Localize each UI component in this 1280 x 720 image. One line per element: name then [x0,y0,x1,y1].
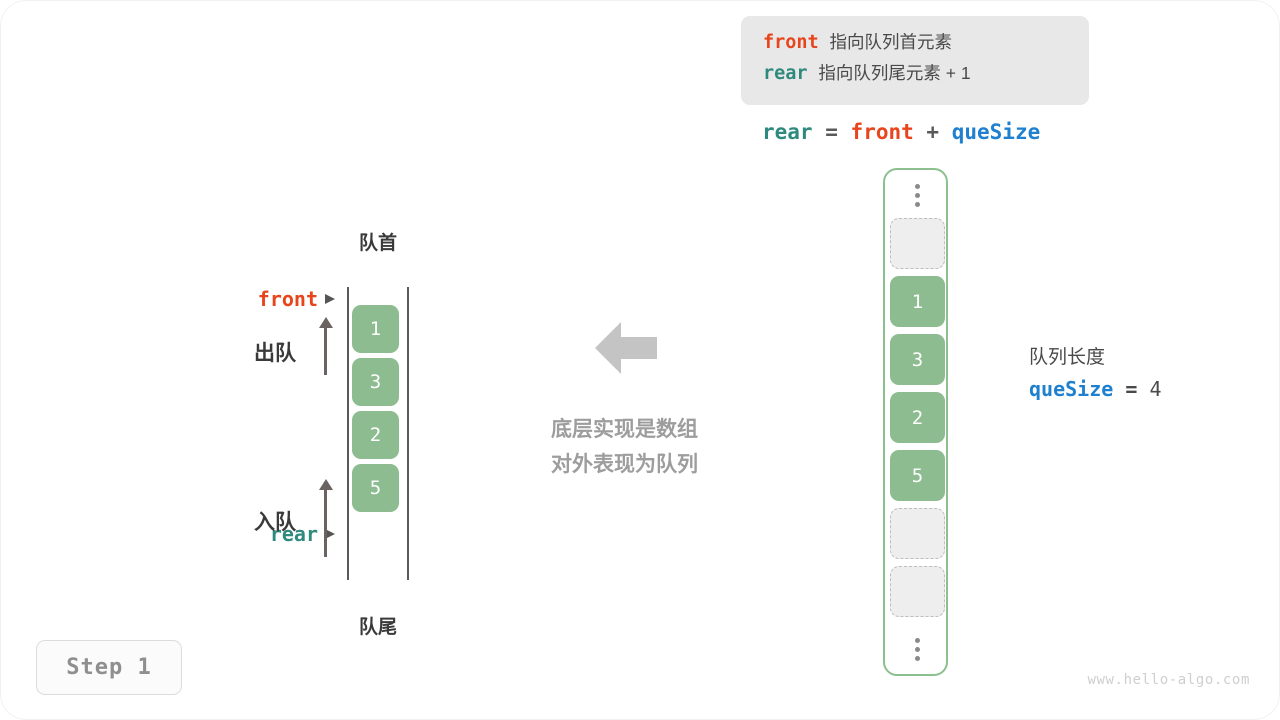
pointer-definition-note: front 指向队列首元素 rear 指向队列尾元素 + 1 [741,16,1089,105]
array-cell-1: 1 [890,276,945,327]
front-keyword: front [763,32,819,53]
queue-cell-1: 3 [352,358,399,406]
step-badge: Step 1 [36,640,182,695]
quesize-equals: = [1125,377,1137,401]
rear-keyword: rear [763,63,808,84]
queue-size-title: 队列长度 [1029,343,1161,373]
diagram-caption: 底层实现是数组 对外表现为队列 [512,412,737,482]
step-badge-label: Step 1 [66,655,151,680]
front-pointer-label: front [258,287,335,311]
array-cell-3: 2 [890,392,945,443]
array-cell-2-value: 3 [912,349,923,371]
array-cell-6 [890,566,945,617]
array-cell-1-value: 1 [912,291,923,313]
array-cell-3-value: 2 [912,407,923,429]
rear-formula: rear = front + queSize [762,120,1040,144]
underlying-array: 1 3 2 5 [883,168,948,676]
queue-rail-left [347,287,349,580]
front-pointer-text: front [258,287,318,311]
array-cell-4-value: 5 [912,465,923,487]
arrow-right-caret-icon-front [325,294,335,304]
queue-cell-2-value: 2 [370,424,381,446]
caption-line-1: 底层实现是数组 [512,412,737,447]
queue-head-label: 队首 [347,228,409,255]
vertical-ellipsis-icon-top [885,178,950,212]
array-cell-0 [890,218,945,269]
formula-equals: = [825,120,838,144]
arrow-up-icon-dequeue [318,317,334,375]
queue-cell-3: 5 [352,464,399,512]
rear-description: 指向队列尾元素 + 1 [818,63,970,83]
array-cell-5 [890,508,945,559]
formula-plus: + [926,120,939,144]
queue-cell-0-value: 1 [370,318,381,340]
front-description: 指向队列首元素 [830,32,953,52]
note-line-front: front 指向队列首元素 [763,27,1089,58]
quesize-variable: queSize [1029,377,1113,401]
formula-rear: rear [762,120,813,144]
queue-tail-label: 队尾 [347,612,409,639]
formula-quesize: queSize [952,120,1041,144]
arrow-up-icon-enqueue [318,479,334,557]
queue-rail-right [407,287,409,580]
queue-cell-1-value: 3 [370,371,381,393]
queue-cell-3-value: 5 [370,477,381,499]
queue-cell-0: 1 [352,305,399,353]
dequeue-label: 出队 [254,337,296,367]
queue-size-annotation: 队列长度 queSize = 4 [1029,343,1161,405]
quesize-value: 4 [1149,377,1161,401]
caption-line-2: 对外表现为队列 [512,447,737,482]
formula-front: front [851,120,914,144]
enqueue-label: 入队 [254,506,296,536]
arrow-left-icon [595,322,657,374]
vertical-ellipsis-icon-bottom [885,632,950,666]
array-cell-4: 5 [890,450,945,501]
diagram-canvas: front 指向队列首元素 rear 指向队列尾元素 + 1 rear = fr… [0,0,1280,720]
note-line-rear: rear 指向队列尾元素 + 1 [763,58,1089,89]
queue-size-expression: queSize = 4 [1029,373,1161,405]
array-cell-2: 3 [890,334,945,385]
queue-cell-2: 2 [352,411,399,459]
watermark: www.hello-algo.com [1087,672,1250,688]
